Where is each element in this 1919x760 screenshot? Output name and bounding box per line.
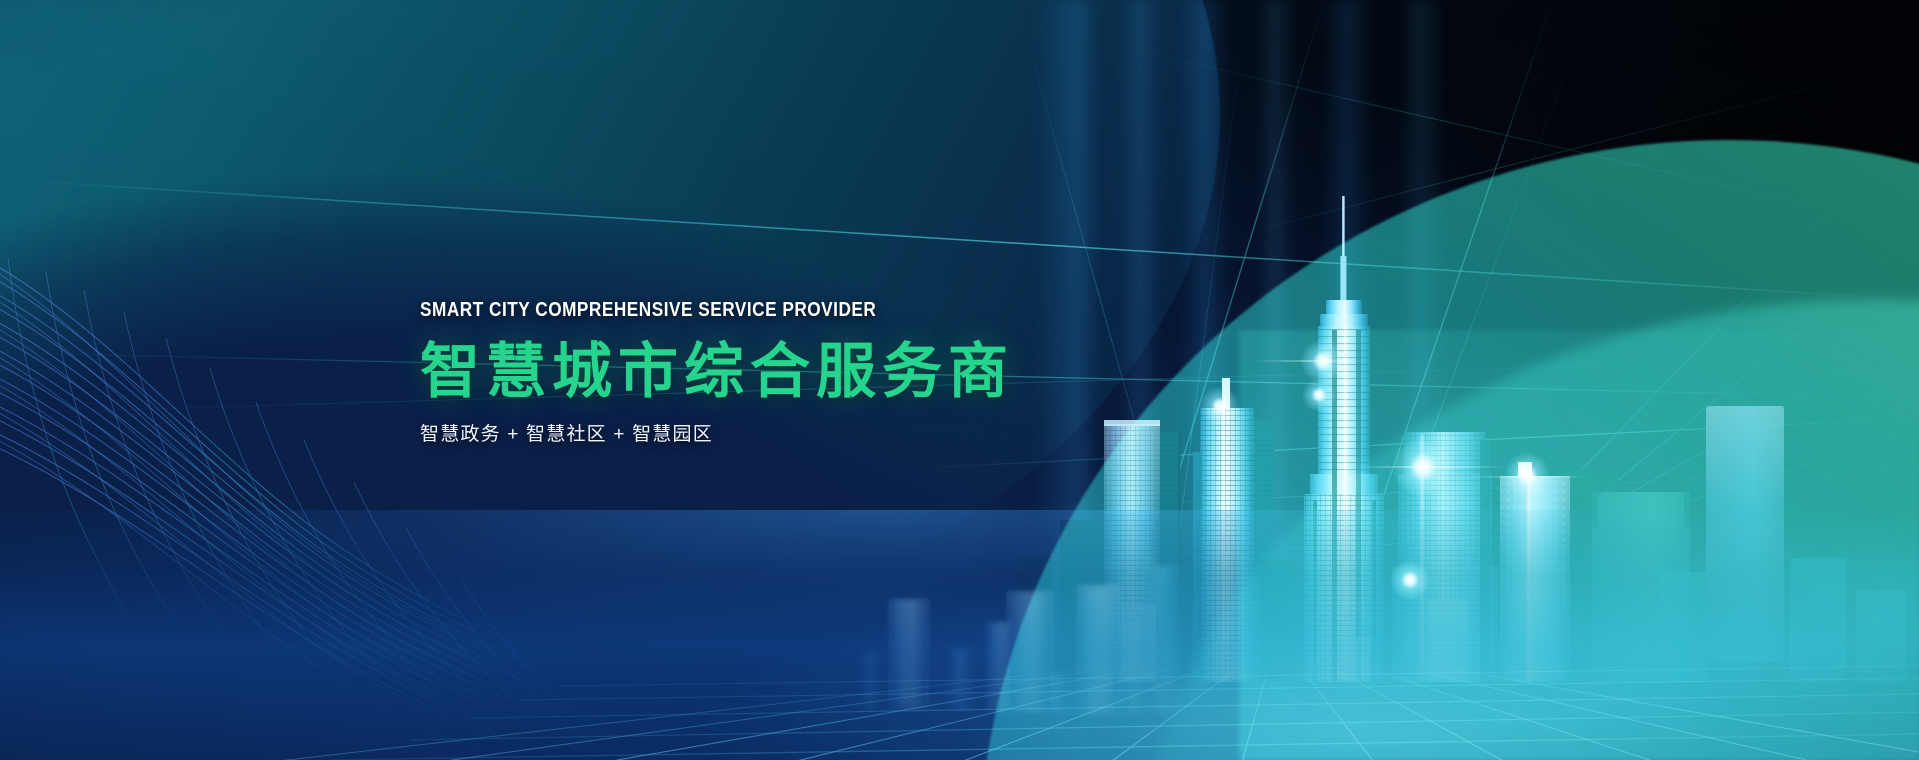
- smart-city-banner: SMART CITY COMPREHENSIVE SERVICE PROVIDE…: [0, 0, 1919, 760]
- banner-subline-services: 智慧政务 + 智慧社区 + 智慧园区: [420, 425, 1140, 444]
- green-tint-overlay: [1239, 330, 1919, 760]
- banner-copy-block: SMART CITY COMPREHENSIVE SERVICE PROVIDE…: [420, 300, 1140, 444]
- banner-eyebrow-english: SMART CITY COMPREHENSIVE SERVICE PROVIDE…: [420, 300, 1039, 320]
- banner-headline-chinese: 智慧城市综合服务商: [420, 340, 1140, 403]
